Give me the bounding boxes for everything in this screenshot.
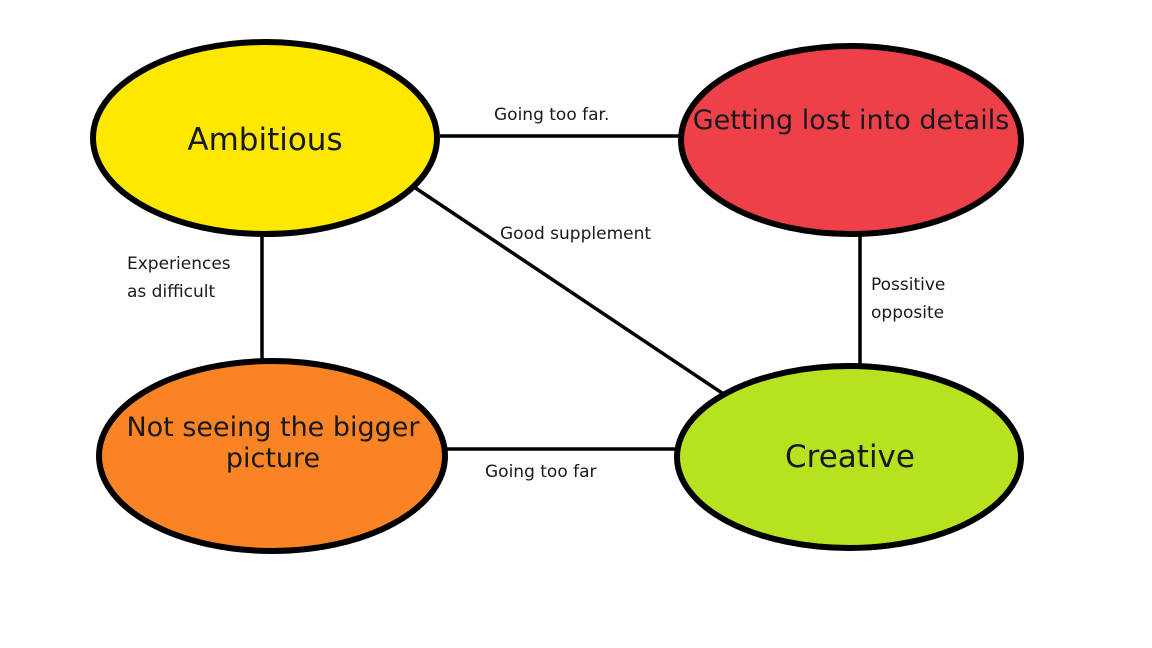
node-getting-lost-into-details[interactable] xyxy=(681,46,1021,234)
edge-label-ambitious-to-details: Going too far. xyxy=(494,102,609,130)
edge-ambitious-to-creative xyxy=(414,187,728,397)
node-creative[interactable] xyxy=(677,366,1021,548)
node-ambitious[interactable] xyxy=(93,42,437,234)
diagram-svg xyxy=(0,0,1152,648)
node-not-seeing-the-bigger-picture[interactable] xyxy=(99,361,445,551)
edge-label-ambitious-to-bigger-picture: Experiences as difficult xyxy=(127,251,231,306)
diagram-canvas: Ambitious Getting lost into details Not … xyxy=(0,0,1152,648)
edge-label-bigger-picture-to-creative: Going too far xyxy=(485,459,597,487)
edge-label-ambitious-to-creative: Good supplement xyxy=(500,221,651,249)
edge-label-details-to-creative: Possitive opposite xyxy=(871,272,945,327)
